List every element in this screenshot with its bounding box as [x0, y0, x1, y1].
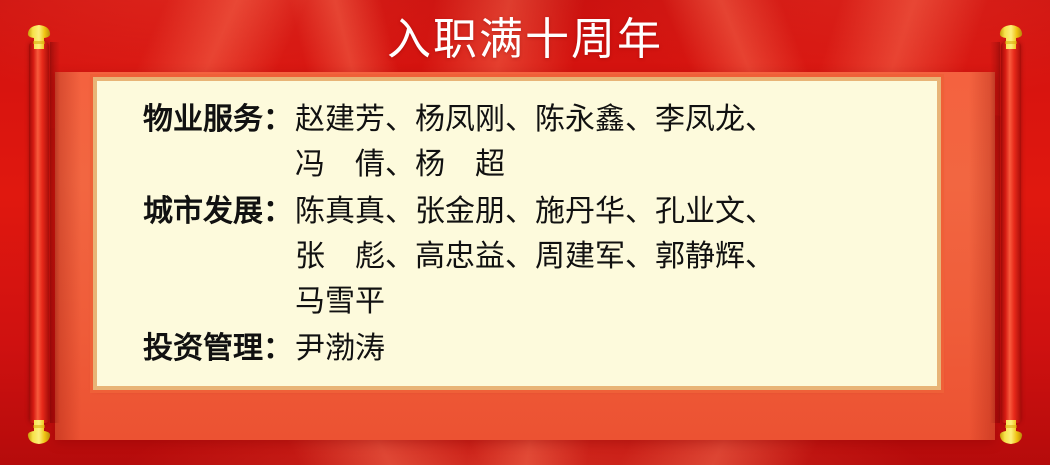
- rod-shadow: [50, 42, 60, 423]
- honoree-list: 物业服务： 赵建芳、杨凤刚、陈永鑫、李凤龙、 冯 倩、杨 超 城市发展： 陈真真…: [97, 81, 937, 373]
- department-label: 城市发展：: [143, 189, 293, 234]
- banner-slide: 入职满十周年 物业服务： 赵建芳、杨凤刚、陈永鑫、李凤龙、 冯 倩、杨 超 城市…: [0, 0, 1050, 465]
- content-panel: 物业服务： 赵建芳、杨凤刚、陈永鑫、李凤龙、 冯 倩、杨 超 城市发展： 陈真真…: [93, 77, 941, 390]
- rod-shadow: [990, 42, 1000, 423]
- honoree-names: 尹渤涛: [293, 326, 881, 371]
- department-label: 投资管理：: [143, 326, 293, 371]
- scroll-rod-left: [26, 20, 52, 445]
- department-label: 物业服务：: [143, 97, 293, 142]
- honoree-names: 陈真真、张金朋、施丹华、孔业文、 张 彪、高忠益、周建军、郭静辉、 马雪平: [293, 189, 881, 324]
- list-item: 城市发展： 陈真真、张金朋、施丹华、孔业文、 张 彪、高忠益、周建军、郭静辉、 …: [143, 189, 937, 324]
- rod-bar: [29, 42, 49, 423]
- rod-bar: [1001, 42, 1021, 423]
- honoree-names: 赵建芳、杨凤刚、陈永鑫、李凤龙、 冯 倩、杨 超: [293, 97, 881, 187]
- scroll-finial-icon: [26, 419, 52, 445]
- scroll-finial-icon: [26, 24, 52, 50]
- list-item: 投资管理： 尹渤涛: [143, 326, 937, 371]
- scroll-finial-icon: [998, 419, 1024, 445]
- page-title: 入职满十周年: [0, 14, 1050, 66]
- list-item: 物业服务： 赵建芳、杨凤刚、陈永鑫、李凤龙、 冯 倩、杨 超: [143, 97, 937, 187]
- scroll-rod-right: [998, 20, 1024, 445]
- scroll-finial-icon: [998, 24, 1024, 50]
